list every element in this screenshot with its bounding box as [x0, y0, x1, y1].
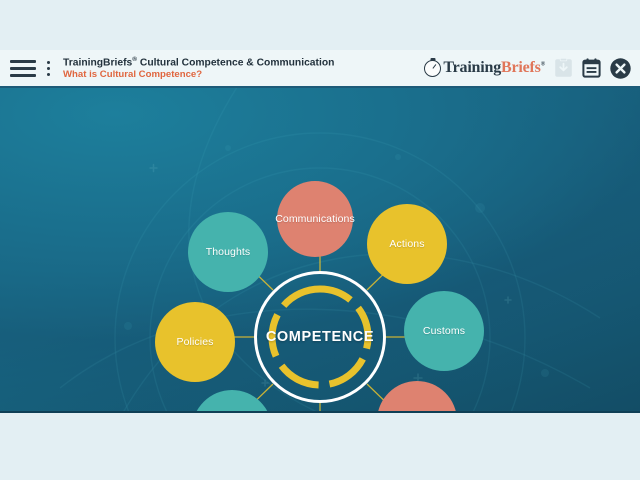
- logo-registered-mark: ®: [541, 62, 545, 68]
- slide-canvas: CommunicationsActionsCustomsBeliefsValue…: [0, 88, 640, 413]
- kebab-menu-icon[interactable]: [42, 61, 54, 76]
- page-title-rest: Cultural Competence & Communication: [137, 57, 334, 68]
- trainingbriefs-logo: TrainingBriefs®: [424, 59, 545, 77]
- page-title: TrainingBriefs® Cultural Competence & Co…: [63, 56, 334, 70]
- node-label: Thoughts: [206, 246, 251, 258]
- node-label: Actions: [389, 238, 424, 250]
- hub-competence[interactable]: COMPETENCE: [254, 271, 386, 403]
- node-label: Customs: [423, 325, 465, 337]
- notes-icon[interactable]: [582, 58, 601, 78]
- node-customs[interactable]: Customs: [404, 291, 484, 371]
- node-policies[interactable]: Policies: [155, 302, 235, 382]
- logo-word-briefs: Briefs: [501, 59, 541, 76]
- page-title-brand: TrainingBriefs: [63, 57, 132, 68]
- logo-text: TrainingBriefs®: [443, 59, 545, 77]
- close-icon[interactable]: [610, 58, 631, 79]
- hamburger-icon[interactable]: [10, 60, 36, 77]
- header-titles: TrainingBriefs® Cultural Competence & Co…: [63, 56, 334, 81]
- stopwatch-icon: [424, 60, 441, 77]
- course-player-window: TrainingBriefs® Cultural Competence & Co…: [0, 0, 640, 480]
- node-label: Communications: [275, 213, 355, 225]
- page-subtitle: What is Cultural Competence?: [63, 69, 334, 80]
- header-actions: TrainingBriefs®: [424, 58, 631, 79]
- download-icon: [554, 58, 573, 78]
- hub-label: COMPETENCE: [254, 271, 386, 403]
- logo-word-training: Training: [443, 59, 501, 76]
- node-communications[interactable]: Communications: [277, 181, 353, 257]
- node-label: Policies: [177, 336, 214, 348]
- player-header: TrainingBriefs® Cultural Competence & Co…: [0, 50, 640, 88]
